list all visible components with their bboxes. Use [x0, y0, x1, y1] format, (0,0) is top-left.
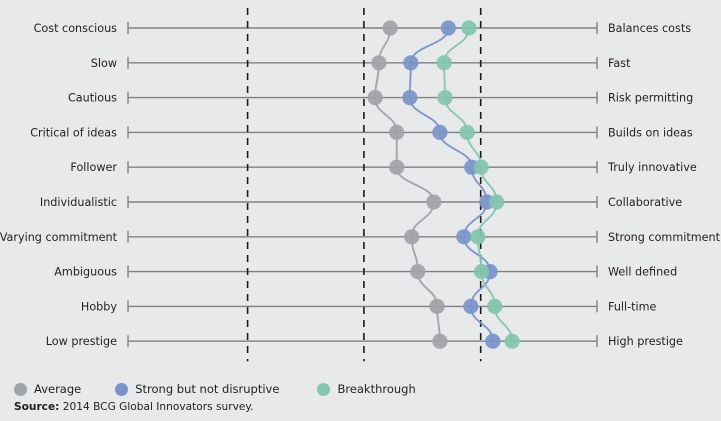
- right-pole-label: High prestige: [608, 335, 683, 348]
- legend-label-average: Average: [34, 382, 81, 396]
- series-data-point[interactable]: [429, 299, 444, 314]
- left-pole-label: Cost conscious: [34, 22, 118, 35]
- left-pole-label: Varying commitment: [0, 231, 118, 244]
- right-pole-label: Fast: [608, 57, 631, 70]
- series-data-point[interactable]: [383, 20, 398, 35]
- series-data-point[interactable]: [470, 229, 485, 244]
- right-pole-label: Risk permitting: [608, 92, 693, 105]
- series-data-point[interactable]: [456, 229, 471, 244]
- axis-rows-group: [128, 22, 597, 347]
- series-data-point[interactable]: [459, 125, 474, 140]
- series-data-point[interactable]: [485, 334, 500, 349]
- legend-label-breakthrough: Breakthrough: [337, 382, 415, 396]
- series-data-point[interactable]: [404, 229, 419, 244]
- left-pole-label: Follower: [70, 161, 117, 174]
- series-data-point[interactable]: [489, 194, 504, 209]
- left-pole-label: Low prestige: [46, 335, 117, 348]
- legend-swatch-strong-but-not-disruptive: [115, 383, 128, 396]
- legend-swatch-breakthrough: [317, 383, 330, 396]
- series-data-point[interactable]: [505, 334, 520, 349]
- source-text: 2014 BCG Global Innovators survey.: [59, 401, 253, 413]
- series-data-point[interactable]: [402, 90, 417, 105]
- legend-item-average[interactable]: Average: [14, 382, 81, 396]
- right-pole-label: Truly innovative: [607, 161, 697, 174]
- legend-swatch-average: [14, 383, 27, 396]
- left-pole-label: Critical of ideas: [30, 126, 117, 139]
- left-pole-labels-group: Cost consciousSlowCautiousCritical of id…: [0, 22, 118, 348]
- chart-plot-area: Cost consciousSlowCautiousCritical of id…: [0, 0, 721, 421]
- series-data-point[interactable]: [426, 194, 441, 209]
- series-data-point[interactable]: [474, 160, 489, 175]
- right-pole-label: Balances costs: [608, 22, 691, 35]
- series-data-point[interactable]: [461, 20, 476, 35]
- series-data-point[interactable]: [410, 264, 425, 279]
- series-data-point[interactable]: [463, 299, 478, 314]
- left-pole-label: Hobby: [81, 300, 117, 313]
- left-pole-label: Ambiguous: [54, 266, 117, 279]
- left-pole-label: Cautious: [68, 92, 117, 105]
- series-data-point[interactable]: [403, 55, 418, 70]
- series-data-point[interactable]: [432, 334, 447, 349]
- series-data-point[interactable]: [389, 125, 404, 140]
- right-pole-labels-group: Balances costsFastRisk permittingBuilds …: [607, 22, 721, 348]
- series-data-point[interactable]: [487, 299, 502, 314]
- series-data-point[interactable]: [432, 125, 447, 140]
- chart-legend: Average Strong but not disruptive Breakt…: [14, 379, 714, 399]
- series-data-point[interactable]: [474, 264, 489, 279]
- left-pole-label: Individualistic: [40, 196, 117, 209]
- right-pole-label: Collaborative: [608, 196, 682, 209]
- legend-item-strong-but-not-disruptive[interactable]: Strong but not disruptive: [115, 382, 279, 396]
- series-data-point[interactable]: [371, 55, 386, 70]
- left-pole-label: Slow: [91, 57, 117, 70]
- innovation-profile-chart: Cost consciousSlowCautiousCritical of id…: [0, 0, 721, 421]
- series-line: [375, 28, 440, 341]
- right-pole-label: Builds on ideas: [608, 126, 693, 139]
- series-data-point[interactable]: [437, 55, 452, 70]
- right-pole-label: Strong commitment: [608, 231, 721, 244]
- right-pole-label: Full-time: [608, 300, 657, 313]
- right-pole-label: Well defined: [608, 266, 677, 279]
- legend-item-breakthrough[interactable]: Breakthrough: [317, 382, 415, 396]
- series-dots-group: [368, 20, 520, 348]
- source-note: Source: 2014 BCG Global Innovators surve…: [14, 401, 253, 413]
- series-data-point[interactable]: [441, 20, 456, 35]
- series-data-point[interactable]: [437, 90, 452, 105]
- legend-label-strong-but-not-disruptive: Strong but not disruptive: [135, 382, 279, 396]
- source-prefix: Source:: [14, 401, 59, 413]
- series-lines-group: [375, 28, 512, 341]
- series-data-point[interactable]: [389, 160, 404, 175]
- series-data-point[interactable]: [368, 90, 383, 105]
